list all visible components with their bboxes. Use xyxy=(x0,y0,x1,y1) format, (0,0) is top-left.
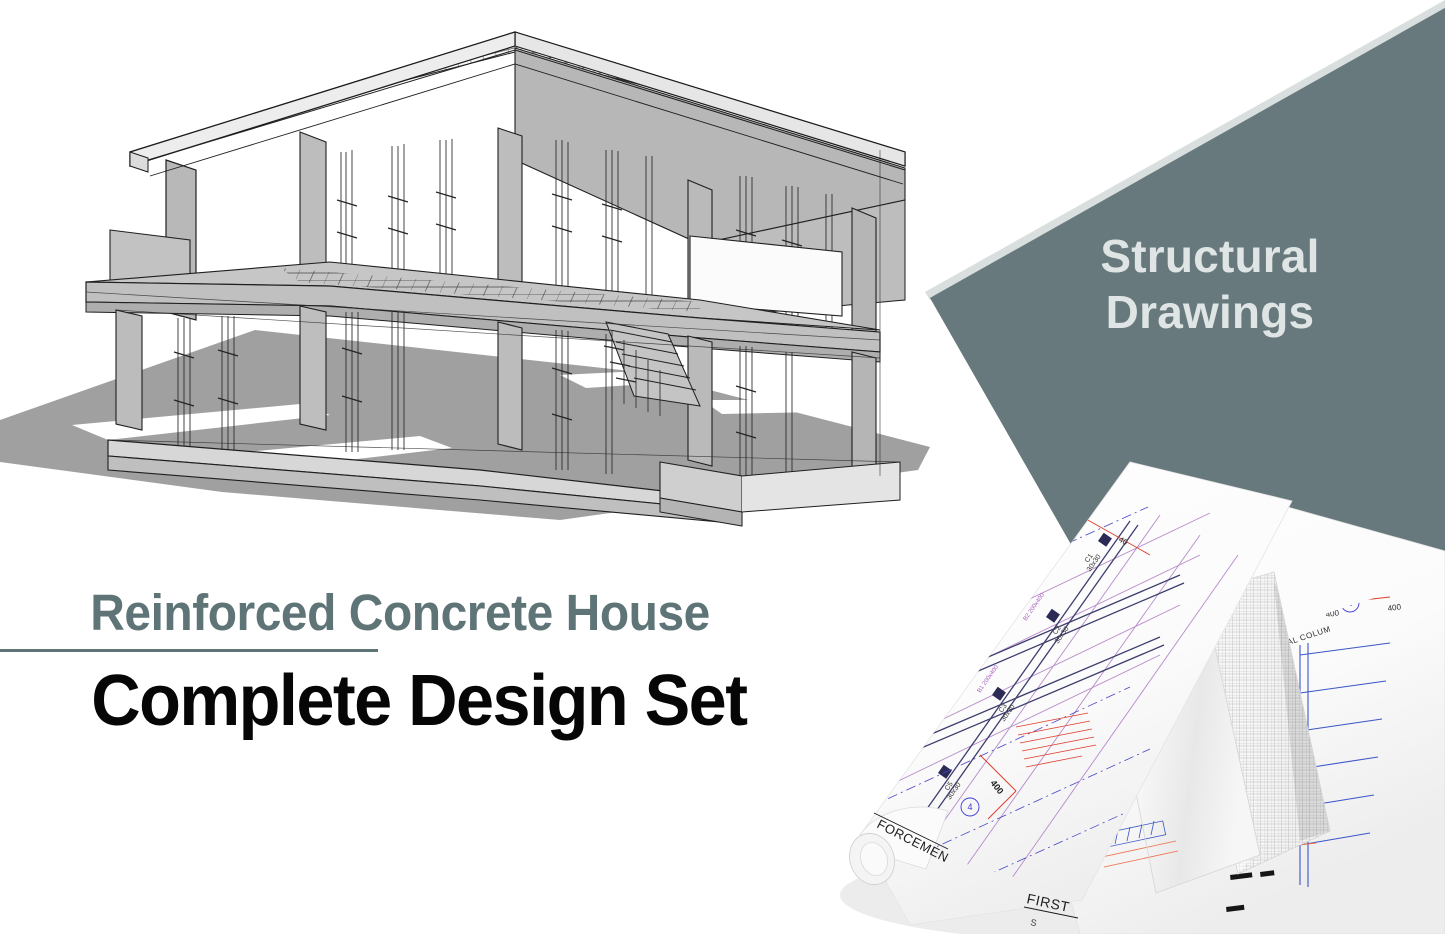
svg-text:4: 4 xyxy=(967,802,972,812)
svg-text:400: 400 xyxy=(1387,602,1402,613)
banner-line-2: Drawings xyxy=(1020,284,1400,340)
poster-canvas: Structural Drawings xyxy=(0,0,1445,934)
blueprint-rolls: NAL COLUM 400 400 xyxy=(830,455,1445,934)
svg-text:3: 3 xyxy=(1079,506,1084,516)
banner-line-1: Structural xyxy=(1020,228,1400,284)
headline-eyebrow: Reinforced Concrete House xyxy=(0,586,846,640)
headline-block: Reinforced Concrete House Complete Desig… xyxy=(0,586,900,739)
headline-main: Complete Design Set xyxy=(0,664,855,740)
headline-rule xyxy=(0,649,378,652)
banner-label: Structural Drawings xyxy=(1020,228,1400,340)
